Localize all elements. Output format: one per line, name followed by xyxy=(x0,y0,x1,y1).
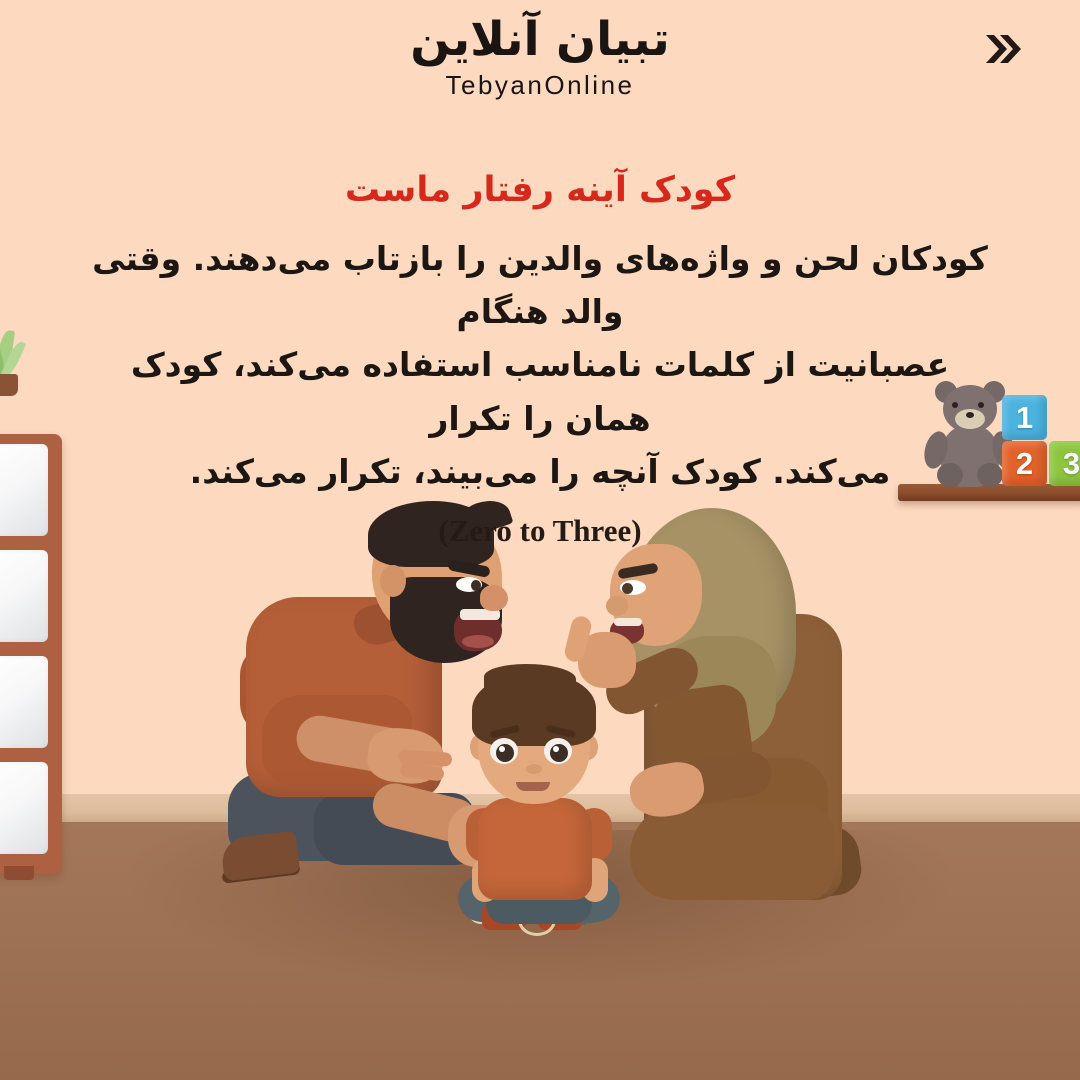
mother-figure xyxy=(596,508,876,928)
child-fringe xyxy=(476,686,592,726)
child-eye-gleam xyxy=(499,746,505,752)
brand-name-persian: تبیان آنلاین xyxy=(330,16,750,63)
double-chevron-right-icon[interactable] xyxy=(980,26,1026,72)
brand-logo: تبیان آنلاین TebyanOnline xyxy=(330,16,750,101)
mother-lap xyxy=(630,804,834,900)
body-line: عصبانیت از کلمات نامناسب استفاده می‌کند،… xyxy=(90,338,990,445)
child-nose xyxy=(526,764,542,774)
window-pane xyxy=(0,762,48,854)
page-header: تبیان آنلاین TebyanOnline xyxy=(0,0,1080,120)
mother-nose xyxy=(606,596,628,616)
text-content-block: کودک آینه رفتار ماست کودکان لحن و واژه‌ه… xyxy=(0,168,1080,549)
child-eye-gleam xyxy=(553,746,559,752)
child-figure xyxy=(460,672,620,934)
page-title: کودک آینه رفتار ماست xyxy=(0,168,1080,214)
father-pupil xyxy=(471,580,481,591)
child-sad-mouth xyxy=(516,782,550,791)
brand-name-latin: TebyanOnline xyxy=(330,70,750,101)
mother-teeth xyxy=(614,618,642,626)
father-tongue xyxy=(462,635,494,648)
body-line: می‌کند. کودک آنچه را می‌بیند، تکرار می‌ک… xyxy=(90,445,990,498)
father-ear xyxy=(380,565,406,597)
mother-pupil xyxy=(622,583,633,594)
window-frame-foot xyxy=(4,866,34,880)
window-pane xyxy=(0,656,48,748)
window-pane xyxy=(0,550,48,642)
body-paragraph: کودکان لحن و واژه‌های والدین را بازتاب م… xyxy=(90,232,990,499)
source-attribution: (Zero to Three) xyxy=(0,513,1080,549)
infographic-canvas: 1 2 3 xyxy=(0,0,1080,1080)
body-line: کودکان لحن و واژه‌های والدین را بازتاب م… xyxy=(90,232,990,339)
father-nose xyxy=(480,585,508,611)
child-tshirt xyxy=(478,798,592,900)
